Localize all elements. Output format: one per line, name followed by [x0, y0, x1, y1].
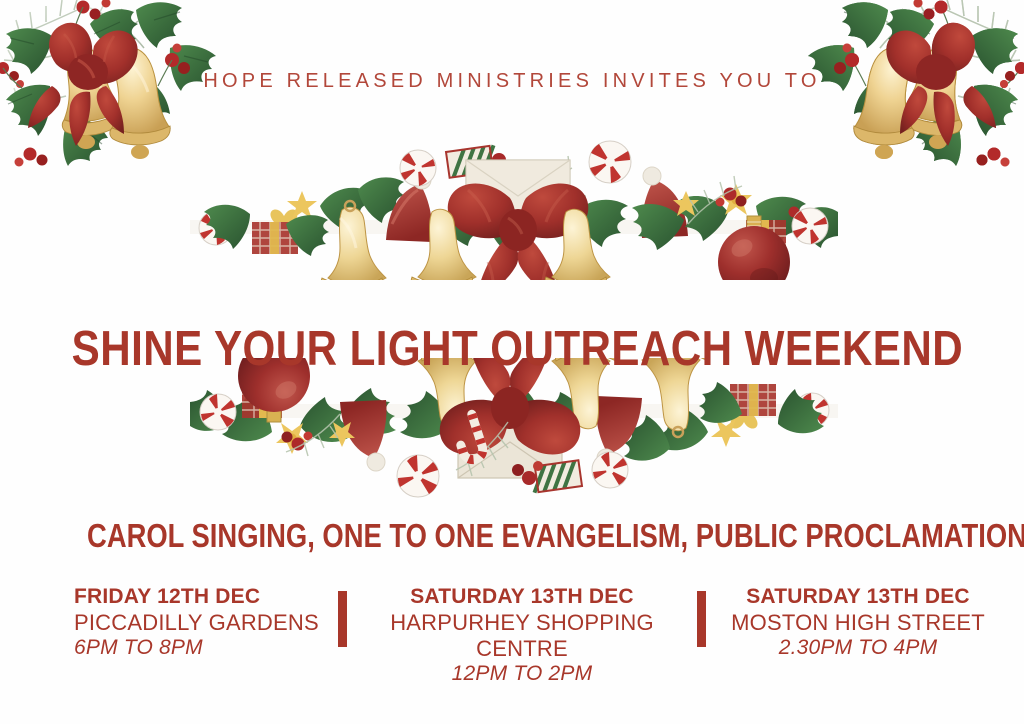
- christmas-garland-top: [190, 128, 838, 280]
- event-activities-tagline: CAROL SINGING, ONE TO ONE EVANGELISM, PU…: [87, 519, 937, 552]
- event-column-2: SATURDAY 13TH DEC HARPURHEY SHOPPING CEN…: [349, 585, 695, 686]
- invitation-kicker-text: HOPE RELEASED MINISTRIES INVITES YOU TO: [0, 70, 1024, 93]
- column-divider-2: [697, 591, 706, 647]
- event-location: MOSTON HIGH STREET: [708, 610, 1008, 636]
- event-location: PICCADILLY GARDENS: [74, 610, 336, 636]
- event-time: 6PM TO 8PM: [74, 636, 336, 661]
- event-date: FRIDAY 12TH DEC: [74, 585, 336, 610]
- event-column-1: FRIDAY 12TH DEC PICCADILLY GARDENS 6PM T…: [16, 585, 336, 660]
- event-headline: SHINE YOUR LIGHT OUTREACH WEEKEND: [72, 325, 953, 374]
- event-date: SATURDAY 13TH DEC: [708, 585, 1008, 610]
- event-time: 2.30PM TO 4PM: [708, 636, 1008, 661]
- event-location: HARPURHEY SHOPPING CENTRE: [349, 610, 695, 662]
- event-date: SATURDAY 13TH DEC: [349, 585, 695, 610]
- column-divider-1: [338, 591, 347, 647]
- event-schedule-row: FRIDAY 12TH DEC PICCADILLY GARDENS 6PM T…: [0, 585, 1024, 675]
- christmas-event-flyer: HOPE RELEASED MINISTRIES INVITES YOU TO …: [0, 0, 1024, 724]
- event-time: 12PM TO 2PM: [349, 662, 695, 687]
- event-column-3: SATURDAY 13TH DEC MOSTON HIGH STREET 2.3…: [708, 585, 1008, 660]
- christmas-garland-bottom: [190, 358, 838, 510]
